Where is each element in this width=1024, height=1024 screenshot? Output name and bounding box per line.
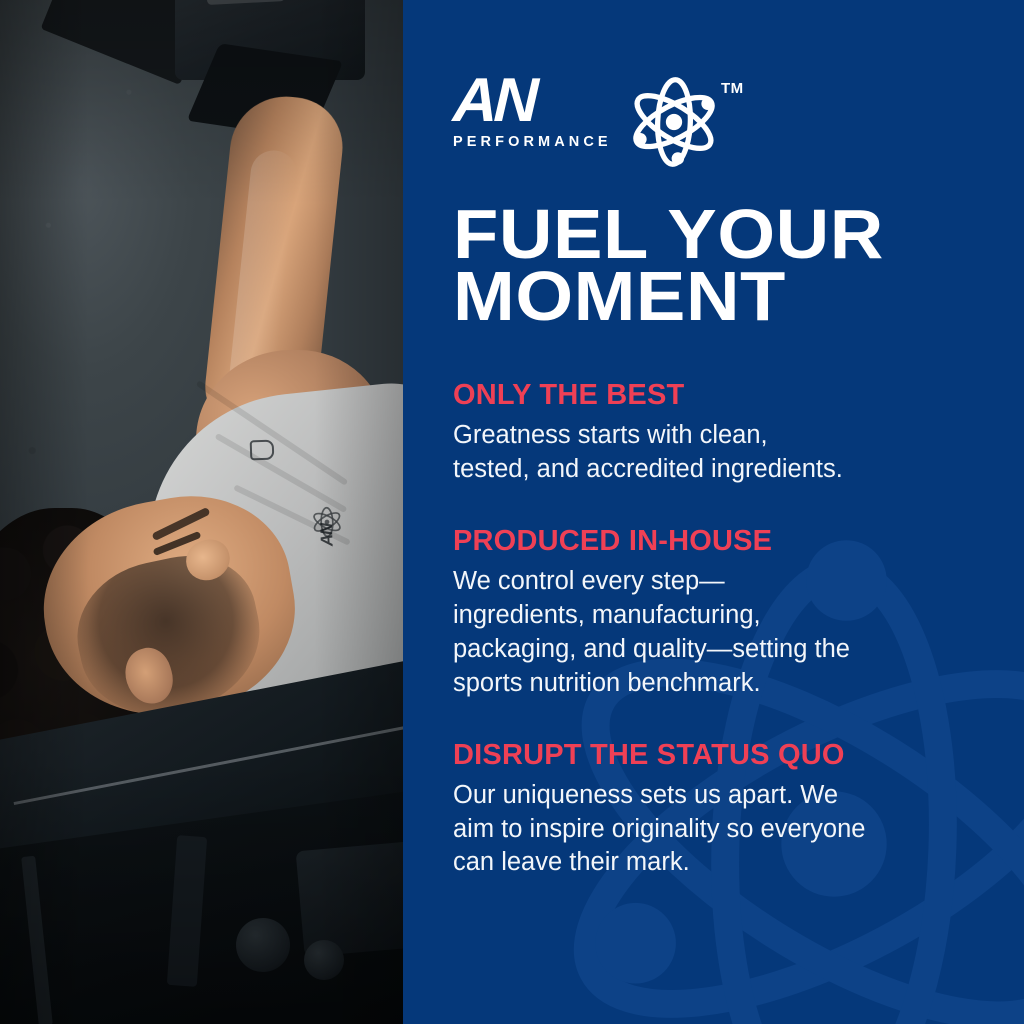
page-title: FUEL YOUR MOMENT: [453, 204, 1012, 327]
feature-block: PRODUCED IN-HOUSE We control every step—…: [453, 525, 980, 701]
athlete-photo: AN: [0, 0, 403, 1024]
brand-wordmark: AN: [452, 72, 613, 129]
feature-title: ONLY THE BEST: [453, 379, 980, 412]
brand-tagline: PERFORMANCE: [453, 134, 612, 150]
feature-block: ONLY THE BEST Greatness starts with clea…: [453, 379, 980, 487]
feature-body-line: tested, and accredited ingredients.: [453, 453, 980, 487]
feature-body: Greatness starts with clean, tested, and…: [453, 419, 980, 487]
bench-knob: [304, 940, 344, 980]
atom-icon: [626, 74, 722, 170]
feature-title: PRODUCED IN-HOUSE: [453, 525, 980, 558]
feature-body-line: packaging, and quality—setting the: [453, 633, 980, 667]
feature-title: DISRUPT THE STATUS QUO: [453, 739, 980, 772]
brand-atom-wrap: TM: [626, 68, 722, 170]
trademark-symbol: TM: [721, 80, 744, 97]
feature-body: Our uniqueness sets us apart. We aim to …: [453, 779, 980, 881]
bench-knob: [236, 918, 290, 972]
feature-body-line: can leave their mark.: [453, 846, 980, 880]
sleeve-tag-icon: [250, 440, 275, 461]
feature-body-line: aim to inspire originality so everyone: [453, 813, 980, 847]
feature-body-line: sports nutrition benchmark.: [453, 667, 980, 701]
brand-text-block: AN PERFORMANCE: [453, 68, 612, 150]
content-panel: AN PERFORMANCE TM: [403, 0, 1024, 1024]
feature-body-line: Greatness starts with clean,: [453, 419, 980, 453]
feature-body-line: ingredients, manufacturing,: [453, 599, 980, 633]
bench-plate: [296, 841, 403, 957]
feature-block: DISRUPT THE STATUS QUO Our uniqueness se…: [453, 739, 980, 881]
feature-body: We control every step— ingredients, manu…: [453, 565, 980, 701]
feature-body-line: Our uniqueness sets us apart. We: [453, 779, 980, 813]
advertisement-canvas: AN: [0, 0, 1024, 1024]
brand-logo: AN PERFORMANCE TM: [453, 68, 980, 170]
feature-body-line: We control every step—: [453, 565, 980, 599]
headline-line-2: MOMENT: [453, 266, 1012, 328]
sleeve-wordmark: AN: [317, 523, 338, 546]
